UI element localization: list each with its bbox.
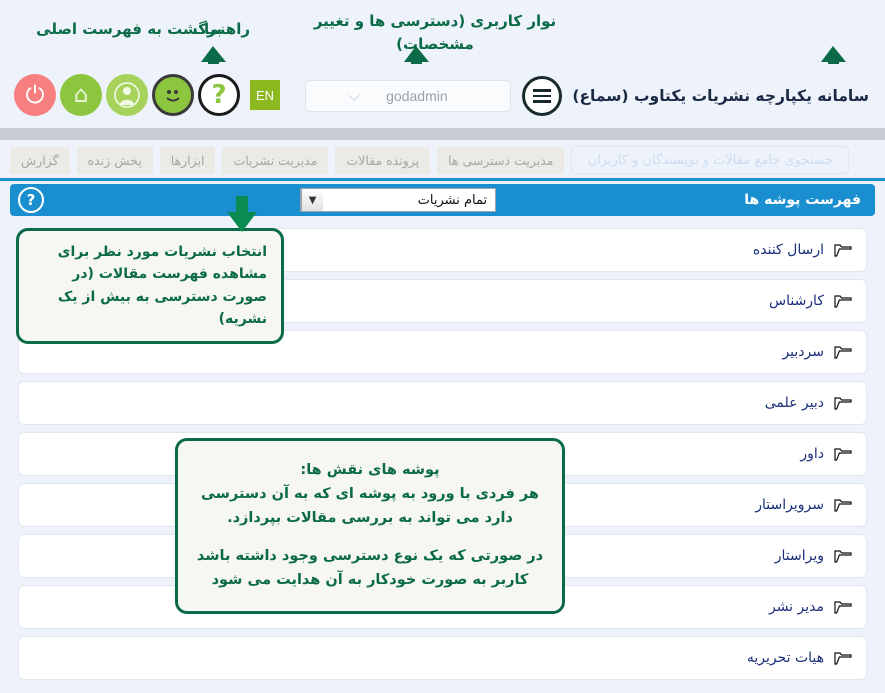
folder-label: سرویراستار xyxy=(755,497,824,513)
menu-top-divider xyxy=(0,128,885,140)
support-agent-icon-glyph xyxy=(162,85,184,105)
callout-publication-select: انتخاب نشریات مورد نظر برای مشاهده فهرست… xyxy=(16,228,284,344)
hamburger-line xyxy=(533,95,551,98)
folder-row-scientific-secretary[interactable]: دبیر علمی xyxy=(18,381,867,425)
app-header: ⏻ ⌂ ? EN xyxy=(0,64,885,128)
callout-role-folders-line2: در صورتی که یک نوع دسترسی وجود داشته باش… xyxy=(194,545,546,593)
support-agent-icon[interactable] xyxy=(152,74,194,116)
folder-icon xyxy=(834,447,852,462)
folder-icon xyxy=(834,243,852,258)
folder-row-editorial-board[interactable]: هیات تحریریه xyxy=(18,636,867,680)
tab-access-management[interactable]: مدیریت دسترسی ها xyxy=(437,147,564,174)
page-root: برگشت به فهرست اصلی نوار کاربری (دسترسی … xyxy=(0,0,885,693)
tab-article-files[interactable]: پرونده مقالات xyxy=(335,147,430,174)
app-title: سامانه یکپارچه نشریات یکتاوب (سماع) xyxy=(572,87,869,105)
menu-accent-underline xyxy=(0,178,885,181)
folder-label: مدیر نشر xyxy=(769,599,824,615)
folder-label: ویراستار xyxy=(775,548,824,564)
user-profile-icon-glyph xyxy=(114,82,140,108)
folder-icon xyxy=(834,600,852,615)
annotation-back-to-main: برگشت به فهرست اصلی xyxy=(36,20,222,38)
callout-role-folders-line1: هر فردی با ورود به پوشه ای که به آن دستر… xyxy=(194,483,546,531)
help-question-icon-glyph: ? xyxy=(211,82,226,108)
language-toggle-button[interactable]: EN xyxy=(250,80,280,110)
page-title: فهرست پوشه ها xyxy=(744,192,861,208)
tab-live-stream[interactable]: پخش زنده xyxy=(77,147,153,174)
chevron-down-icon[interactable]: ▼ xyxy=(301,189,323,211)
chevron-down-icon: ⌵ xyxy=(348,88,360,104)
annotation-user-bar: نوار کاربری (دسترسی ها و تغییر مشخصات) xyxy=(275,10,595,55)
tab-journal-management[interactable]: مدیریت نشریات xyxy=(222,147,328,174)
username-label: godadmin xyxy=(386,88,448,104)
folder-icon xyxy=(834,651,852,666)
callout-role-folders-title: پوشه های نقش ها: xyxy=(194,459,546,483)
user-account-dropdown[interactable]: ⌵ godadmin xyxy=(305,80,511,112)
global-search-input[interactable]: جستجوی جامع مقالات و نویسندگان و کاربران xyxy=(571,146,849,174)
publication-select-value: تمام نشریات xyxy=(418,193,487,208)
callout-role-folders: پوشه های نقش ها: هر فردی با ورود به پوشه… xyxy=(175,438,565,614)
publication-select[interactable]: تمام نشریات ▼ xyxy=(300,188,496,212)
help-question-icon[interactable]: ? xyxy=(198,74,240,116)
folder-label: دبیر علمی xyxy=(765,395,824,411)
folder-panel-header: فهرست پوشه ها تمام نشریات ▼ ? xyxy=(10,184,875,216)
folder-icon xyxy=(834,396,852,411)
callout-publication-select-text: انتخاب نشریات مورد نظر برای مشاهده فهرست… xyxy=(58,244,267,327)
hamburger-icon[interactable] xyxy=(522,76,562,116)
folder-label: ارسال کننده xyxy=(753,242,824,258)
panel-help-icon[interactable]: ? xyxy=(18,187,44,213)
folder-icon xyxy=(834,498,852,513)
folder-label: کارشناس xyxy=(769,293,824,309)
power-icon-glyph: ⏻ xyxy=(26,83,45,107)
search-placeholder: جستجوی جامع مقالات و نویسندگان و کاربران xyxy=(588,153,834,168)
folder-icon xyxy=(834,294,852,309)
main-navigation: گزارش پخش زنده ابزارها مدیریت نشریات پرو… xyxy=(0,140,885,180)
tab-report[interactable]: گزارش xyxy=(10,147,70,174)
power-icon[interactable]: ⏻ xyxy=(14,74,56,116)
brand-area: سامانه یکپارچه نشریات یکتاوب (سماع) xyxy=(522,76,869,116)
annotation-arrow-publication-select xyxy=(222,196,262,236)
annotation-help: راهنما xyxy=(204,20,250,38)
hamburger-line xyxy=(533,89,551,92)
folder-icon xyxy=(834,345,852,360)
user-profile-icon[interactable] xyxy=(106,74,148,116)
hamburger-line xyxy=(533,100,551,103)
header-icon-row: ⏻ ⌂ ? EN xyxy=(14,74,286,116)
folder-label: سردبیر xyxy=(782,344,824,360)
tab-tools[interactable]: ابزارها xyxy=(160,147,216,174)
folder-icon xyxy=(834,549,852,564)
home-icon[interactable]: ⌂ xyxy=(60,74,102,116)
folder-label: داور xyxy=(800,446,824,462)
home-icon-glyph: ⌂ xyxy=(74,84,89,107)
folder-label: هیات تحریریه xyxy=(747,650,824,666)
callout-paragraph-gap xyxy=(194,531,546,545)
